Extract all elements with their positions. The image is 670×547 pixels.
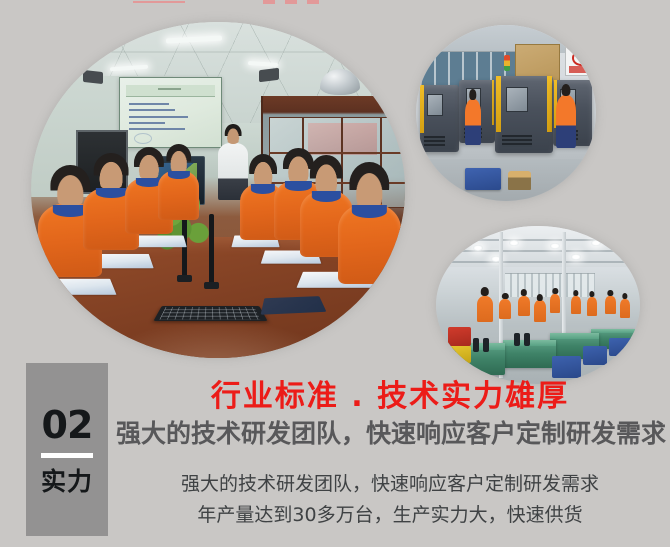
text-block: 行业标准 . 技术实力雄厚 强大的技术研发团队，快速响应客户定制研发需求 强大的… xyxy=(116,380,664,531)
ceiling-beam xyxy=(436,261,640,263)
assembly-worker xyxy=(571,296,581,315)
badge-divider-rule xyxy=(41,453,93,458)
safety-warning-sign xyxy=(565,46,594,76)
slide-title-bar xyxy=(126,85,215,97)
top-red-block-remnant-2 xyxy=(285,0,297,4)
parts-crate xyxy=(465,168,501,191)
cnc-machine-shop-photo xyxy=(416,25,596,201)
secondary-headline: 强大的技术研发团队，快速响应客户定制研发需求 xyxy=(116,419,664,448)
wooden-stool xyxy=(508,171,531,190)
handout-paper xyxy=(39,278,117,294)
wall-speaker xyxy=(259,68,279,82)
machine-operator xyxy=(556,95,576,148)
ceiling-beam xyxy=(436,239,640,241)
cnc-machine xyxy=(495,76,553,153)
machine-fixture xyxy=(524,333,530,346)
assembly-worker xyxy=(605,296,615,315)
blue-parts-crate xyxy=(583,346,607,365)
top-red-block-remnant-3 xyxy=(307,0,319,4)
wall-speaker xyxy=(83,70,103,84)
ceiling-beam xyxy=(436,250,640,252)
blue-parts-crate xyxy=(552,356,581,378)
slide-logo xyxy=(134,133,152,144)
conference-microphone xyxy=(209,214,214,285)
machine-operator xyxy=(465,99,481,145)
storage-racking xyxy=(505,273,595,296)
body-copy-line: 年产量达到30多万台，生产实力大，快速供货 xyxy=(116,500,664,531)
projection-screen xyxy=(119,77,222,148)
assembly-worker xyxy=(620,299,630,318)
blue-parts-crate xyxy=(609,338,631,355)
slide-bullet xyxy=(129,109,175,111)
training-meeting-room-photo xyxy=(31,22,405,358)
slide-bullet xyxy=(129,122,165,124)
slide-bullet xyxy=(129,116,188,118)
green-workbench xyxy=(503,340,556,368)
seated-employee xyxy=(158,170,199,220)
andon-stack-light xyxy=(504,55,510,71)
seated-employee xyxy=(338,203,402,284)
keyboard xyxy=(154,306,267,321)
shop-floor xyxy=(416,159,596,201)
slide-bullet xyxy=(129,128,186,130)
slide-bullet xyxy=(129,103,169,105)
cnc-machine xyxy=(420,85,460,152)
assembly-production-floor-photo xyxy=(436,226,640,384)
table-reflection xyxy=(84,320,352,358)
ceiling-lamp xyxy=(473,245,483,251)
mousepad xyxy=(261,296,327,314)
assembly-worker xyxy=(550,294,560,313)
machine-fixture xyxy=(514,333,520,346)
yellow-parts-crate xyxy=(448,346,470,363)
machine-fixture xyxy=(483,338,489,352)
strength-banner-section: 02 实力 行业标准 . 技术实力雄厚 强大的技术研发团队，快速响应客户定制研发… xyxy=(0,0,670,547)
badge-label: 实力 xyxy=(41,469,93,494)
body-copy-line: 强大的技术研发团队，快速响应客户定制研发需求 xyxy=(116,469,664,500)
badge-number: 02 xyxy=(42,406,93,444)
top-red-rule-remnant xyxy=(133,1,185,3)
assembly-worker xyxy=(518,296,530,317)
red-parts-crate xyxy=(448,327,470,346)
section-number-badge: 02 实力 xyxy=(26,363,108,536)
assembly-worker xyxy=(499,299,511,320)
top-red-block-remnant-1 xyxy=(263,0,275,4)
primary-headline: 行业标准 . 技术实力雄厚 xyxy=(116,380,664,414)
assembly-worker xyxy=(534,300,546,322)
handout-paper xyxy=(134,236,186,248)
assembly-worker xyxy=(587,297,597,316)
machine-fixture xyxy=(473,338,479,352)
body-copy: 强大的技术研发团队，快速响应客户定制研发需求 年产量达到30多万台，生产实力大，… xyxy=(116,469,664,531)
assembly-worker xyxy=(477,296,493,323)
